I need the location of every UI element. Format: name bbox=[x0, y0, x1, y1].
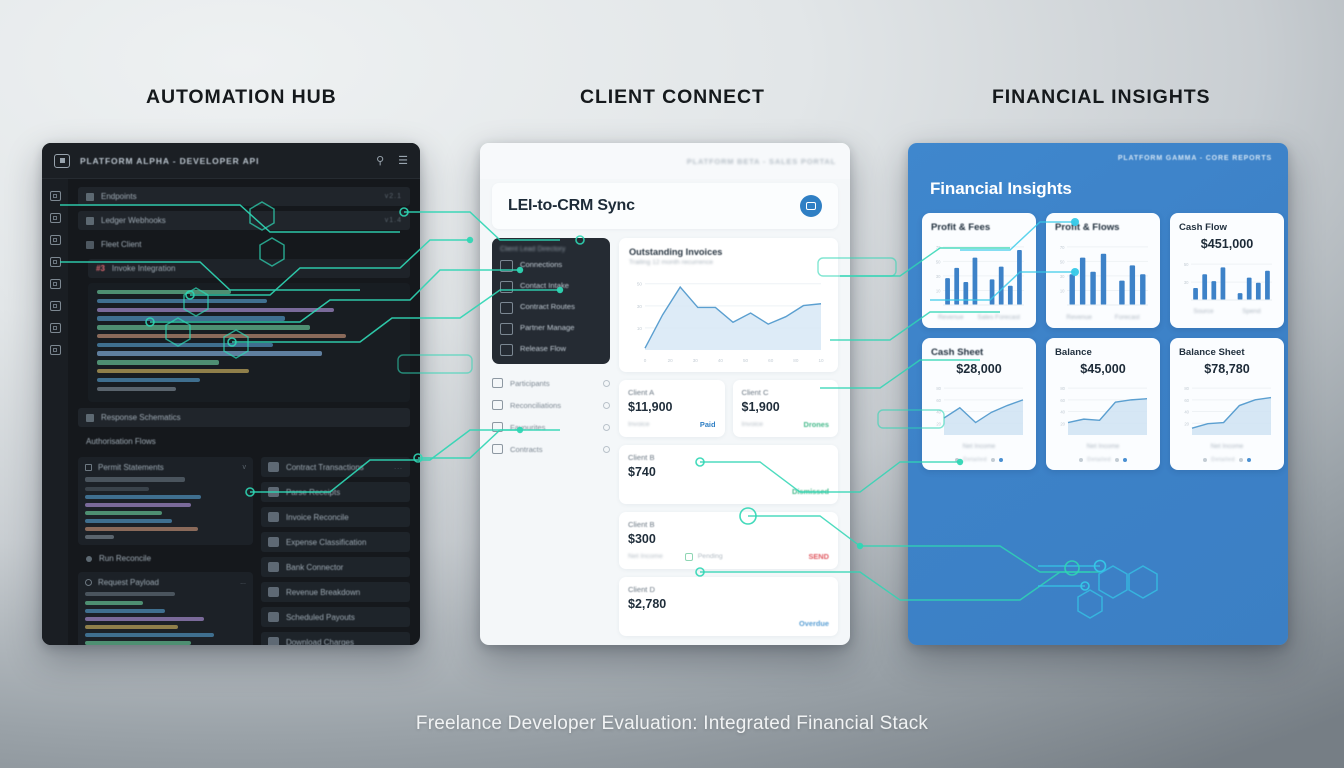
svg-text:30: 30 bbox=[693, 358, 699, 363]
card-foot-right: Sales Forecast bbox=[977, 314, 1020, 321]
briefcase-icon[interactable] bbox=[50, 257, 61, 267]
sidebar-item[interactable]: Contract Routes bbox=[500, 302, 602, 314]
card-value: $28,000 bbox=[931, 362, 1027, 376]
beta-hero: LEI-to-CRM Sync bbox=[492, 183, 838, 229]
grid-icon[interactable] bbox=[50, 323, 61, 333]
sidebar-item-label: Contact Intake bbox=[520, 281, 569, 290]
card-title: Balance Sheet bbox=[1179, 347, 1275, 358]
svg-text:70: 70 bbox=[936, 245, 941, 250]
panel-financial-insights: PLATFORM GAMMA - CORE REPORTS Financial … bbox=[908, 143, 1288, 645]
card-title: Profit & Flows bbox=[1055, 222, 1151, 233]
beta-hero-title: LEI-to-CRM Sync bbox=[508, 197, 635, 215]
invoice-card[interactable]: Client B $300 Net Income Pending SEND bbox=[619, 512, 838, 569]
list-item-label: Contracts bbox=[510, 445, 543, 454]
reconciliations-icon bbox=[492, 400, 503, 410]
list-item[interactable]: Participants bbox=[492, 372, 610, 394]
card-title: Cash Sheet bbox=[931, 347, 1027, 358]
svg-text:20: 20 bbox=[936, 421, 941, 426]
sidebar-item-label: Partner Manage bbox=[520, 323, 574, 332]
chart-title: Outstanding Invoices bbox=[629, 247, 828, 257]
download-icon bbox=[268, 637, 279, 645]
alpha-icon-rail bbox=[42, 179, 68, 645]
card-icon[interactable] bbox=[50, 279, 61, 289]
report-card-balance-sheet[interactable]: Balance Sheet $78,780 20406080 Net Incom… bbox=[1170, 338, 1284, 470]
list-item[interactable]: Favourites bbox=[492, 416, 610, 438]
list-item[interactable]: Expense Classification bbox=[261, 532, 410, 552]
alpha-nav-label: Endpoints bbox=[101, 192, 137, 201]
radio-icon[interactable] bbox=[603, 380, 610, 387]
invoice-amount: $11,900 bbox=[628, 400, 716, 414]
list-item-label: Invoice Reconcile bbox=[286, 513, 349, 522]
status-badge: Paid bbox=[700, 420, 716, 429]
card-title: Balance bbox=[1055, 347, 1151, 358]
balance-sheet-chart: 20406080 bbox=[1179, 378, 1275, 440]
alpha-section-row[interactable]: Authorisation Flows bbox=[78, 432, 410, 451]
card-value: $451,000 bbox=[1179, 237, 1275, 251]
svg-text:40: 40 bbox=[1060, 410, 1065, 415]
svg-text:20: 20 bbox=[1184, 421, 1189, 426]
alpha-request-row[interactable]: #3 Invoke Integration bbox=[88, 259, 410, 278]
list-item[interactable]: Bank Connector bbox=[261, 557, 410, 577]
svg-text:10: 10 bbox=[936, 288, 941, 293]
list-item[interactable]: Download Charges bbox=[261, 632, 410, 645]
payout-icon bbox=[268, 612, 279, 622]
list-item-label: Download Charges bbox=[286, 638, 354, 645]
svg-text:80: 80 bbox=[1060, 386, 1065, 391]
svg-text:80: 80 bbox=[793, 358, 799, 363]
favourites-icon bbox=[492, 422, 503, 432]
dashboard-icon[interactable] bbox=[50, 191, 61, 201]
svg-text:20: 20 bbox=[1060, 421, 1065, 426]
card-value: $78,780 bbox=[1179, 362, 1275, 376]
alpha-nav-row[interactable]: Endpoints v2.1 bbox=[78, 187, 410, 206]
apps-icon[interactable] bbox=[50, 345, 61, 355]
card-foot-left: Revenue bbox=[938, 314, 964, 321]
list-item[interactable]: Parse Receipts bbox=[261, 482, 410, 502]
alpha-nav-row[interactable]: Fleet Client bbox=[78, 235, 410, 254]
invoice-amount: $740 bbox=[628, 465, 829, 479]
alpha-nav-row[interactable]: Ledger Webhooks v1.4 bbox=[78, 211, 410, 230]
alpha-card-label: Request Payload bbox=[98, 578, 159, 587]
search-icon[interactable]: ⚲ bbox=[376, 154, 384, 167]
profit-flows-chart: 10305070 bbox=[1055, 237, 1151, 311]
report-card-cash-sheet[interactable]: Cash Sheet $28,000 20406080 Net Income D… bbox=[922, 338, 1036, 470]
contract-icon bbox=[268, 462, 279, 472]
beta-sidebar-header: Client Lead Directory bbox=[500, 246, 602, 253]
circle-icon bbox=[86, 556, 92, 562]
card-value: $45,000 bbox=[1055, 362, 1151, 376]
invoice-client: Client D bbox=[628, 585, 829, 594]
svg-text:0: 0 bbox=[644, 358, 647, 363]
panel-client-connect: PLATFORM BETA - SALES PORTAL LEI-to-CRM … bbox=[480, 143, 850, 645]
doc-icon bbox=[85, 464, 92, 471]
chat-bubble-icon[interactable] bbox=[800, 195, 822, 217]
sidebar-item[interactable]: Release Flow bbox=[500, 344, 602, 356]
card-foot-left: Net Income bbox=[1179, 443, 1275, 450]
app-logo-icon bbox=[54, 154, 70, 168]
pending-label: Pending bbox=[698, 553, 723, 560]
card-foot-left: Revenue bbox=[1066, 314, 1092, 321]
card-foot-right: Forecast bbox=[1115, 314, 1140, 321]
radio-icon[interactable] bbox=[603, 446, 610, 453]
svg-text:10: 10 bbox=[818, 358, 824, 363]
circle-icon bbox=[85, 579, 92, 586]
svg-text:40: 40 bbox=[936, 410, 941, 415]
terminal-icon[interactable] bbox=[50, 235, 61, 245]
bank-icon bbox=[268, 562, 279, 572]
list-item-label: Revenue Breakdown bbox=[286, 588, 360, 597]
invoice-card[interactable]: Client C $1,900 Invoice Drones bbox=[733, 380, 839, 437]
card-foot-left: Source bbox=[1193, 308, 1213, 315]
svg-text:20: 20 bbox=[668, 358, 674, 363]
list-item[interactable]: Scheduled Payouts bbox=[261, 607, 410, 627]
svg-text:30: 30 bbox=[1184, 280, 1189, 285]
invoice-amount: $300 bbox=[628, 532, 829, 546]
invoice-icon bbox=[268, 512, 279, 522]
invoice-amount: $1,900 bbox=[742, 400, 830, 414]
list-item[interactable]: Reconciliations bbox=[492, 394, 610, 416]
svg-text:60: 60 bbox=[768, 358, 774, 363]
more-icon[interactable]: ... bbox=[240, 579, 246, 586]
sidebar-item-label: Contract Routes bbox=[520, 302, 575, 311]
report-card-balance[interactable]: Balance $45,000 20406080 Net Income Deta… bbox=[1046, 338, 1160, 470]
menu-icon[interactable]: ☰ bbox=[398, 154, 408, 167]
alpha-nav-meta: v2.1 bbox=[385, 193, 402, 200]
expense-icon bbox=[268, 537, 279, 547]
revenue-icon bbox=[268, 587, 279, 597]
figure-caption: Freelance Developer Evaluation: Integrat… bbox=[0, 713, 1344, 735]
connections-icon bbox=[500, 260, 513, 272]
alpha-nav-label: Fleet Client bbox=[101, 240, 141, 249]
svg-text:30: 30 bbox=[637, 304, 643, 309]
svg-text:80: 80 bbox=[936, 386, 941, 391]
alpha-request-badge: #3 bbox=[96, 264, 105, 273]
invoice-note: Invoice bbox=[628, 421, 650, 428]
status-badge: Overdue bbox=[799, 619, 829, 628]
profit-fees-chart: 10305070 bbox=[931, 237, 1027, 311]
list-item[interactable]: Revenue Breakdown bbox=[261, 582, 410, 602]
database-icon[interactable] bbox=[50, 213, 61, 223]
cash-flow-chart: 3050 bbox=[1179, 253, 1275, 305]
svg-text:10: 10 bbox=[1060, 288, 1065, 293]
svg-text:30: 30 bbox=[1060, 274, 1065, 279]
beta-title: PLATFORM BETA - SALES PORTAL bbox=[687, 157, 836, 166]
routes-icon bbox=[500, 302, 513, 314]
checkbox-icon[interactable] bbox=[685, 553, 693, 561]
svg-text:60: 60 bbox=[1060, 398, 1065, 403]
svg-text:60: 60 bbox=[1184, 398, 1189, 403]
list-item-label: Bank Connector bbox=[286, 563, 343, 572]
list-item-label: Favourites bbox=[510, 423, 545, 432]
alpha-titlebar: PLATFORM ALPHA - DEVELOPER API ⚲ ☰ bbox=[42, 143, 420, 179]
card-foot-left: Net Income bbox=[931, 443, 1027, 450]
alpha-section-label: Authorisation Flows bbox=[86, 437, 156, 446]
gamma-card-grid: Profit & Fees 10305070 Revenue Sales For… bbox=[908, 199, 1288, 470]
card-dots-label: Detailed bbox=[1211, 457, 1235, 463]
list-item-label: Participants bbox=[510, 379, 550, 388]
svg-text:50: 50 bbox=[1184, 262, 1189, 267]
flag-icon bbox=[86, 217, 94, 225]
list-item[interactable]: Contract Transactions... bbox=[261, 457, 410, 477]
list-item-label: Contract Transactions bbox=[286, 463, 364, 472]
beta-secondary-list: Participants Reconciliations Favourites … bbox=[492, 372, 610, 460]
beta-sidebar: Client Lead Directory Connections Contac… bbox=[492, 238, 610, 364]
invoice-client: Client B bbox=[628, 520, 829, 529]
chevron-down-icon[interactable]: v bbox=[242, 464, 246, 471]
svg-text:10: 10 bbox=[637, 326, 643, 331]
branch-icon bbox=[86, 241, 94, 249]
alpha-title: PLATFORM ALPHA - DEVELOPER API bbox=[80, 156, 259, 166]
column-header-financial-insights: FINANCIAL INSIGHTS bbox=[992, 86, 1210, 109]
card-foot-left: Net Income bbox=[1055, 443, 1151, 450]
invoice-note: Net Income bbox=[628, 553, 663, 560]
radio-icon[interactable] bbox=[603, 402, 610, 409]
list-item-label: Scheduled Payouts bbox=[286, 613, 355, 622]
more-icon[interactable]: ... bbox=[394, 464, 403, 471]
status-badge: Drones bbox=[804, 420, 829, 429]
layers-icon bbox=[86, 414, 94, 422]
sidebar-item[interactable]: Partner Manage bbox=[500, 323, 602, 335]
outstanding-invoices-chart-card: Outstanding Invoices Trailing 12 month r… bbox=[619, 238, 838, 372]
alpha-reconcile-row[interactable]: Run Reconcile bbox=[78, 551, 253, 567]
column-header-automation-hub: AUTOMATION HUB bbox=[146, 86, 337, 109]
intake-icon bbox=[500, 281, 513, 293]
contracts-icon bbox=[492, 444, 503, 454]
report-card-profit-fees[interactable]: Profit & Fees 10305070 Revenue Sales For… bbox=[922, 213, 1036, 328]
beta-titlebar: PLATFORM BETA - SALES PORTAL bbox=[480, 143, 850, 179]
invoice-note: Invoice bbox=[742, 421, 764, 428]
svg-text:50: 50 bbox=[743, 358, 749, 363]
invoice-client: Client B bbox=[628, 453, 829, 462]
alpha-permit-card[interactable]: Permit Statements v bbox=[78, 457, 253, 544]
cash-sheet-chart: 20406080 bbox=[931, 378, 1027, 440]
status-badge: Dismissed bbox=[792, 487, 829, 496]
gamma-title: PLATFORM GAMMA - CORE REPORTS bbox=[1118, 155, 1272, 162]
list-item-label: Reconciliations bbox=[510, 401, 561, 410]
invoice-card[interactable]: Client D $2,780 Overdue bbox=[619, 577, 838, 636]
card-title: Profit & Fees bbox=[931, 222, 1027, 233]
svg-text:50: 50 bbox=[637, 282, 643, 287]
alpha-code-block bbox=[88, 283, 410, 402]
svg-text:50: 50 bbox=[1060, 259, 1065, 264]
file-icon[interactable] bbox=[50, 301, 61, 311]
alpha-nav-label: Ledger Webhooks bbox=[101, 216, 166, 225]
report-card-profit-flows[interactable]: Profit & Flows 10305070 Revenue Forecast bbox=[1046, 213, 1160, 328]
alpha-section-label: Response Schematics bbox=[101, 413, 181, 422]
svg-text:50: 50 bbox=[936, 259, 941, 264]
status-badge: SEND bbox=[808, 552, 829, 561]
receipt-icon bbox=[268, 487, 279, 497]
release-icon bbox=[500, 344, 513, 356]
column-header-client-connect: CLIENT CONNECT bbox=[580, 86, 765, 109]
card-dots-label: Detailed bbox=[1087, 457, 1111, 463]
card-dots-label: Detailed bbox=[963, 457, 987, 463]
chart-subtitle: Trailing 12 month recurrence bbox=[629, 259, 828, 266]
card-foot-right: Spend bbox=[1242, 308, 1260, 315]
alpha-request-label: Invoke Integration bbox=[112, 264, 176, 273]
list-item[interactable]: Invoice Reconcile bbox=[261, 507, 410, 527]
svg-text:40: 40 bbox=[718, 358, 724, 363]
list-item-label: Expense Classification bbox=[286, 538, 366, 547]
gamma-heading: Financial Insights bbox=[908, 173, 1288, 199]
partner-icon bbox=[500, 323, 513, 335]
svg-text:30: 30 bbox=[936, 274, 941, 279]
flag-icon bbox=[86, 193, 94, 201]
svg-text:80: 80 bbox=[1184, 386, 1189, 391]
svg-text:60: 60 bbox=[936, 398, 941, 403]
svg-text:70: 70 bbox=[1060, 245, 1065, 250]
alpha-card-label: Run Reconcile bbox=[99, 554, 151, 563]
card-title: Cash Flow bbox=[1179, 222, 1275, 233]
invoice-amount: $2,780 bbox=[628, 597, 829, 611]
outstanding-invoices-chart: 103050020304050608010 bbox=[629, 270, 825, 364]
alpha-card-label: Permit Statements bbox=[98, 463, 164, 472]
invoice-card[interactable]: Client B $740 Dismissed bbox=[619, 445, 838, 504]
participants-icon bbox=[492, 378, 503, 388]
report-card-cash-flow[interactable]: Cash Flow $451,000 3050 Source Spend bbox=[1170, 213, 1284, 328]
list-item[interactable]: Contracts bbox=[492, 438, 610, 460]
radio-icon[interactable] bbox=[603, 424, 610, 431]
sidebar-item[interactable]: Connections bbox=[500, 260, 602, 272]
gamma-titlebar: PLATFORM GAMMA - CORE REPORTS bbox=[908, 143, 1288, 173]
balance-chart: 20406080 bbox=[1055, 378, 1151, 440]
invoice-card[interactable]: Client A $11,900 Invoice Paid bbox=[619, 380, 725, 437]
alpha-nav-meta: v1.4 bbox=[385, 217, 402, 224]
panel-automation-hub: PLATFORM ALPHA - DEVELOPER API ⚲ ☰ Endpo… bbox=[42, 143, 420, 645]
invoice-client: Client A bbox=[628, 388, 716, 397]
sidebar-item-label: Connections bbox=[520, 260, 562, 269]
alpha-payload-card[interactable]: Request Payload ... bbox=[78, 572, 253, 645]
alpha-action-list: Contract Transactions... Parse Receipts … bbox=[261, 457, 410, 645]
alpha-section-row[interactable]: Response Schematics bbox=[78, 408, 410, 427]
sidebar-item[interactable]: Contact Intake bbox=[500, 281, 602, 293]
svg-text:40: 40 bbox=[1184, 410, 1189, 415]
invoice-client: Client C bbox=[742, 388, 830, 397]
sidebar-item-label: Release Flow bbox=[520, 344, 566, 353]
list-item-label: Parse Receipts bbox=[286, 488, 340, 497]
